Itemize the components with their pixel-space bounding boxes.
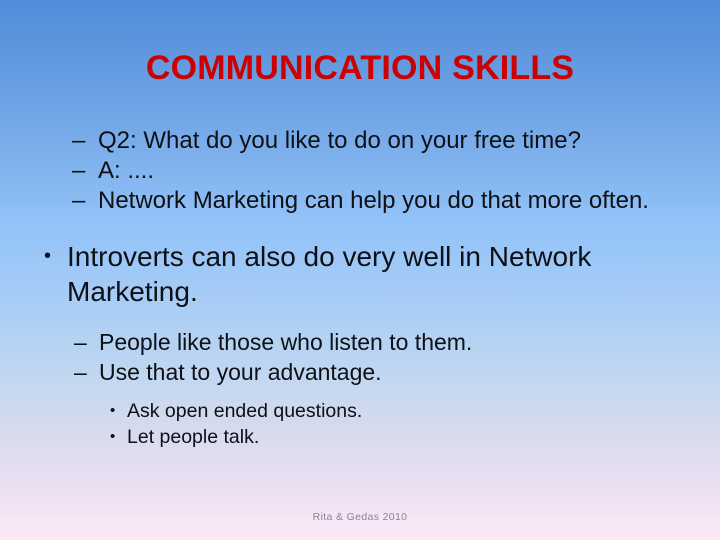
dash-marker-icon: – (72, 186, 98, 216)
bullet-group-lower: – People like those who listen to them. … (0, 327, 720, 387)
list-item-label: A: .... (98, 156, 660, 186)
list-item: • Introverts can also do very well in Ne… (0, 239, 720, 309)
list-item-label: Let people talk. (127, 424, 720, 450)
slide-footer: Rita & Gedas 2010 (0, 507, 720, 525)
dash-marker-icon: – (74, 327, 99, 357)
list-item: • Let people talk. (0, 424, 720, 450)
bullet-group-top: – Q2: What do you like to do on your fre… (0, 126, 720, 216)
footer-credit-label: Rita & Gedas 2010 (313, 511, 408, 523)
list-item: – Q2: What do you like to do on your fre… (0, 126, 720, 156)
list-item-label: Ask open ended questions. (127, 398, 720, 424)
page-title: COMMUNICATION SKILLS (146, 48, 574, 88)
list-item: – A: .... (0, 156, 720, 186)
list-item-label: Q2: What do you like to do on your free … (98, 126, 660, 156)
bullet-group-main: • Introverts can also do very well in Ne… (0, 239, 720, 309)
list-item-label: Use that to your advantage. (99, 357, 720, 387)
bullet-marker-icon: • (110, 398, 127, 424)
bullet-marker-icon: • (110, 424, 127, 450)
list-item: – Use that to your advantage. (0, 357, 720, 387)
dash-marker-icon: – (72, 126, 98, 156)
list-item: – Network Marketing can help you do that… (0, 186, 720, 216)
dash-marker-icon: – (72, 156, 98, 186)
list-item-label: People like those who listen to them. (99, 327, 720, 357)
dash-marker-icon: – (74, 357, 99, 387)
list-item-label: Introverts can also do very well in Netw… (67, 239, 655, 309)
slide-body-placeholder: – Q2: What do you like to do on your fre… (0, 126, 720, 450)
list-item: – People like those who listen to them. (0, 327, 720, 357)
slide-canvas: COMMUNICATION SKILLS – Q2: What do you l… (0, 0, 720, 540)
bullet-group-lowest: • Ask open ended questions. • Let people… (0, 398, 720, 450)
list-item: • Ask open ended questions. (0, 398, 720, 424)
bullet-marker-icon: • (44, 239, 67, 274)
slide-title-placeholder: COMMUNICATION SKILLS (0, 48, 720, 88)
list-item-label: Network Marketing can help you do that m… (98, 186, 660, 216)
